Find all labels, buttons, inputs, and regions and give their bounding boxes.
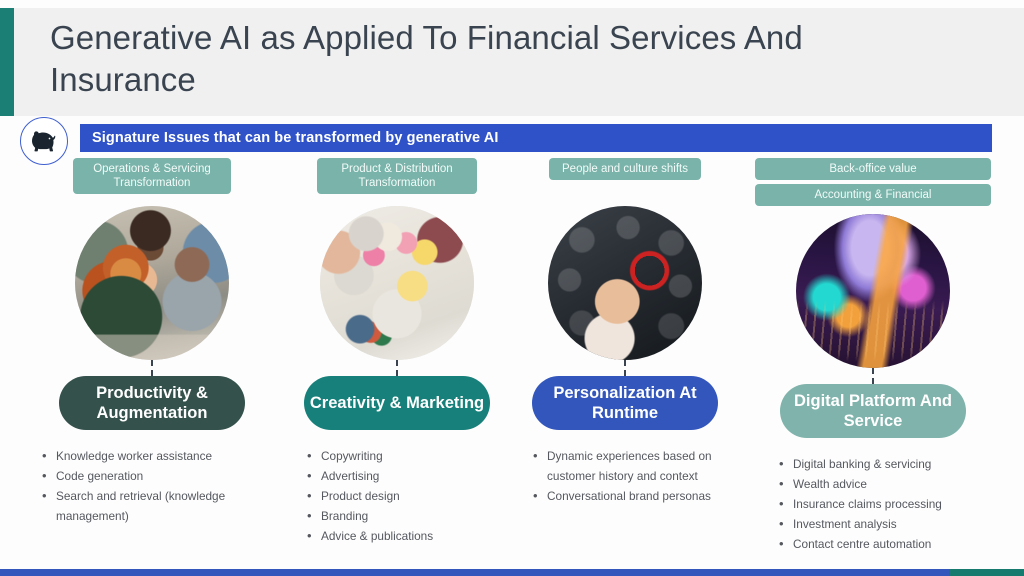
- category-oval-creativity[interactable]: Creativity & Marketing: [304, 376, 490, 430]
- list-item: Product design: [321, 486, 515, 506]
- bullet-list-creativity: Copywriting Advertising Product design B…: [279, 446, 515, 546]
- customer-targeting-photo: [548, 206, 702, 360]
- connector-line: [872, 368, 874, 384]
- list-item: Copywriting: [321, 446, 515, 466]
- list-item: Wealth advice: [793, 474, 991, 494]
- footer-bar: [0, 569, 1024, 576]
- column-creativity: Product & Distribution Transformation Cr…: [279, 158, 515, 546]
- pill-group: Operations & Servicing Transformation: [34, 158, 270, 198]
- pill-group: People and culture shifts: [507, 158, 743, 198]
- design-workshop-photo: [320, 206, 474, 360]
- list-item: Knowledge worker assistance: [56, 446, 270, 466]
- bullet-list-digital-platform: Digital banking & servicing Wealth advic…: [755, 454, 991, 554]
- column-digital-platform: Back-office value Accounting & Financial…: [755, 158, 991, 554]
- bullet-list-productivity: Knowledge worker assistance Code generat…: [34, 446, 270, 526]
- list-item: Search and retrieval (knowledge manageme…: [56, 486, 270, 526]
- connector-line: [396, 360, 398, 376]
- pill-people-culture[interactable]: People and culture shifts: [549, 158, 701, 180]
- bear-icon: [29, 130, 59, 152]
- page-title: Generative AI as Applied To Financial Se…: [50, 17, 950, 101]
- pill-back-office-value[interactable]: Back-office value: [755, 158, 991, 180]
- pill-group: Product & Distribution Transformation: [279, 158, 515, 198]
- connector-line: [624, 360, 626, 376]
- list-item: Conversational brand personas: [547, 486, 743, 506]
- list-item: Investment analysis: [793, 514, 991, 534]
- pill-group: Back-office value Accounting & Financial: [755, 158, 991, 206]
- banner-label: Signature Issues that can be transformed…: [80, 130, 498, 146]
- list-item: Dynamic experiences based on customer hi…: [547, 446, 743, 486]
- pill-accounting-financial[interactable]: Accounting & Financial: [755, 184, 991, 206]
- category-oval-digital-platform[interactable]: Digital Platform And Service: [780, 384, 966, 438]
- list-item: Branding: [321, 506, 515, 526]
- cloud-computing-city-photo: [796, 214, 950, 368]
- column-personalization: People and culture shifts Personalizatio…: [507, 158, 743, 506]
- pill-product-distribution[interactable]: Product & Distribution Transformation: [317, 158, 477, 194]
- connector-line: [151, 360, 153, 376]
- list-item: Insurance claims processing: [793, 494, 991, 514]
- signature-issues-banner: Signature Issues that can be transformed…: [80, 124, 992, 152]
- list-item: Code generation: [56, 466, 270, 486]
- footer-accent: [950, 569, 1024, 576]
- category-oval-productivity[interactable]: Productivity & Augmentation: [59, 376, 245, 430]
- list-item: Digital banking & servicing: [793, 454, 991, 474]
- column-productivity: Operations & Servicing Transformation Pr…: [34, 158, 270, 526]
- bullet-list-personalization: Dynamic experiences based on customer hi…: [507, 446, 743, 506]
- header-accent-bar: [0, 8, 14, 116]
- pill-operations-servicing[interactable]: Operations & Servicing Transformation: [73, 158, 231, 194]
- team-collaboration-photo: [75, 206, 229, 360]
- list-item: Advice & publications: [321, 526, 515, 546]
- list-item: Advertising: [321, 466, 515, 486]
- category-oval-personalization[interactable]: Personalization At Runtime: [532, 376, 718, 430]
- list-item: Contact centre automation: [793, 534, 991, 554]
